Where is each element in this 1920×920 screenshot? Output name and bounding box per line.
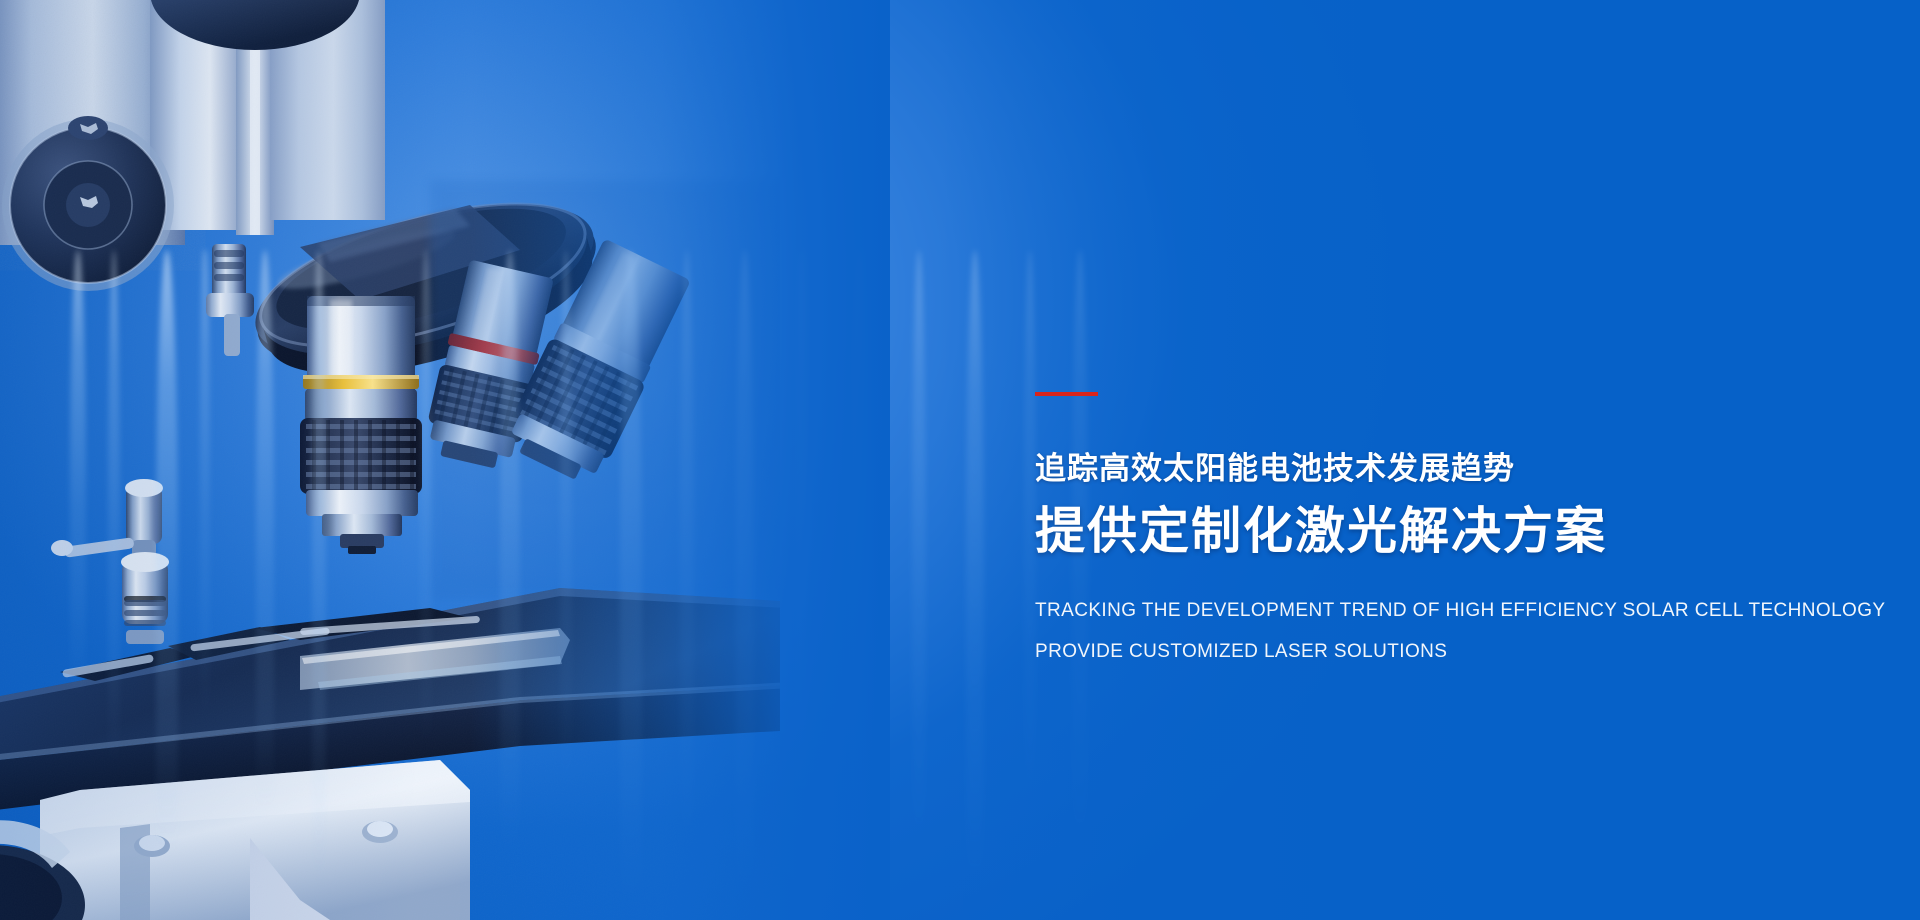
hero-banner: 追踪高效太阳能电池技术发展趋势 提供定制化激光解决方案 TRACKING THE… xyxy=(0,0,1920,920)
hero-subheadline-cn: 追踪高效太阳能电池技术发展趋势 xyxy=(1035,453,1875,484)
hero-headline-cn: 提供定制化激光解决方案 xyxy=(1035,506,1875,556)
hero-english-line-1: TRACKING THE DEVELOPMENT TREND OF HIGH E… xyxy=(1035,601,1875,620)
hero-english-line-2: PROVIDE CUSTOMIZED LASER SOLUTIONS xyxy=(1035,642,1875,661)
hero-english-lines: TRACKING THE DEVELOPMENT TREND OF HIGH E… xyxy=(1035,601,1875,661)
accent-rule xyxy=(1035,392,1098,396)
hero-copy: 追踪高效太阳能电池技术发展趋势 提供定制化激光解决方案 TRACKING THE… xyxy=(1035,392,1875,661)
